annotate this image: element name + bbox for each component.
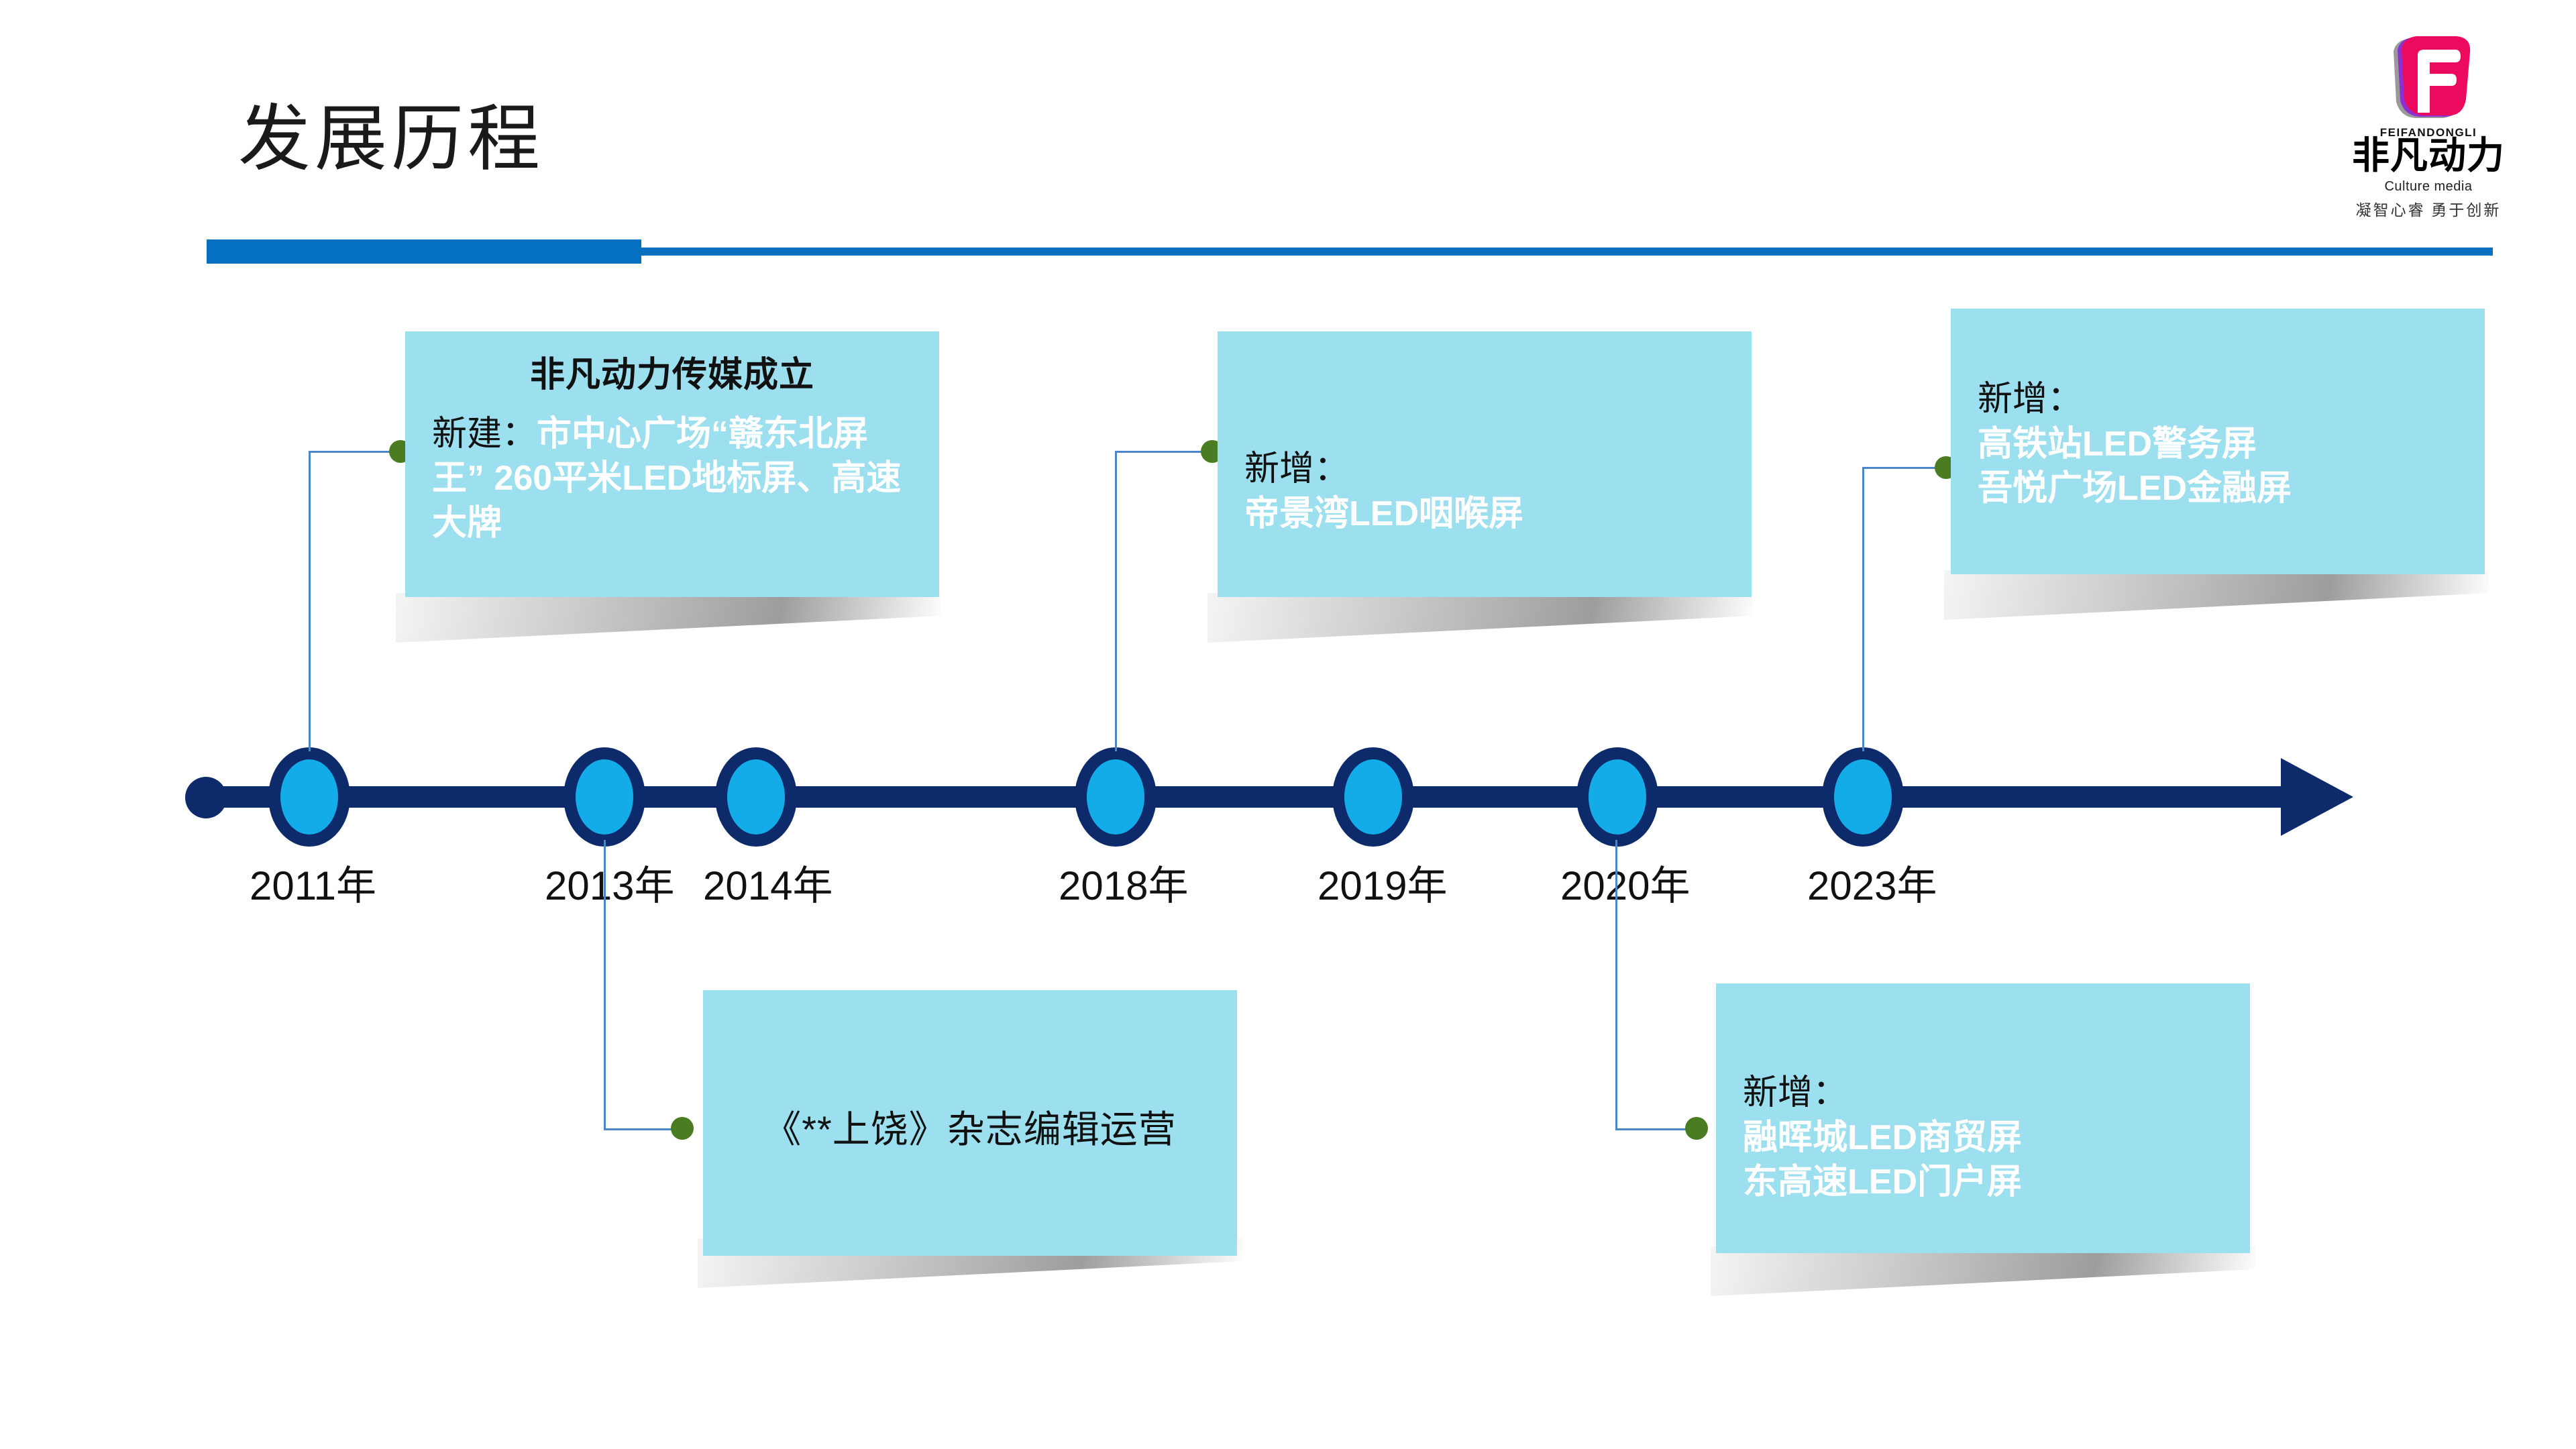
timeline-node-2014[interactable] <box>715 747 797 847</box>
timeline-node-2018[interactable] <box>1075 747 1157 847</box>
timeline-axis <box>221 786 2301 808</box>
card-shadow-2020 <box>1711 1246 2255 1296</box>
year-label-2023: 2023年 <box>1807 853 1937 912</box>
card-2023-lead: 新增： <box>1978 377 2458 422</box>
node-inner-fill <box>1834 759 1892 835</box>
logo-slogan: 凝智心睿 勇于创新 <box>2334 197 2522 220</box>
card-shadow-2023 <box>1944 570 2489 620</box>
node-inner-fill <box>280 759 338 835</box>
timeline-node-2023[interactable] <box>1822 747 1904 847</box>
timeline-start-dot <box>185 777 227 818</box>
connector-vertical-2013 <box>604 840 606 1130</box>
card-shadow-2011 <box>396 593 941 643</box>
year-label-2011: 2011年 <box>250 853 376 912</box>
card-2013-text: 《**上饶》杂志编辑运营 <box>763 1108 1177 1150</box>
card-2020-body-line2: 东高速LED门户屏 <box>1743 1160 2223 1205</box>
card-2018-body-line1: 帝景湾LED咽喉屏 <box>1244 492 1725 537</box>
page-title: 发展历程 <box>238 99 544 179</box>
timeline-node-2011[interactable] <box>268 747 350 847</box>
node-inner-fill <box>576 759 633 835</box>
connector-vertical-2011 <box>309 451 311 751</box>
year-label-2019: 2019年 <box>1318 853 1447 912</box>
feifandongli-f-logo-icon <box>2373 32 2474 126</box>
card-2020-lead: 新增： <box>1743 1071 2223 1116</box>
card-2011-title: 非凡动力传媒成立 <box>432 356 912 396</box>
card-shadow-2018 <box>1207 593 1752 643</box>
connector-dot-2013 <box>671 1117 694 1140</box>
card-2018-lead: 新增： <box>1244 447 1725 492</box>
logo-subtitle-en: Culture media <box>2334 179 2522 195</box>
event-card-2013[interactable]: 《**上饶》杂志编辑运营 <box>703 990 1237 1256</box>
logo-name-cn: 非凡动力 <box>2334 136 2522 176</box>
timeline-node-2020[interactable] <box>1576 747 1658 847</box>
event-card-2023[interactable]: 新增： 高铁站LED警务屏 吾悦广场LED金融屏 <box>1951 309 2485 574</box>
node-inner-fill <box>1589 759 1646 835</box>
title-accent-bar-thick <box>207 239 641 264</box>
year-label-2013: 2013年 <box>545 853 674 912</box>
connector-vertical-2023 <box>1862 467 1864 751</box>
timeline-arrow-icon <box>2281 758 2353 836</box>
card-2020-body-line1: 融晖城LED商贸屏 <box>1743 1116 2223 1161</box>
node-inner-fill <box>727 759 785 835</box>
year-label-2020: 2020年 <box>1560 853 1690 912</box>
title-accent-bar-thin <box>641 248 2493 256</box>
connector-vertical-2020 <box>1615 840 1617 1130</box>
year-label-2014: 2014年 <box>703 853 833 912</box>
event-card-2020[interactable]: 新增： 融晖城LED商贸屏 东高速LED门户屏 <box>1716 983 2250 1253</box>
connector-vertical-2018 <box>1115 451 1117 751</box>
node-inner-fill <box>1344 759 1402 835</box>
event-card-2018[interactable]: 新增： 帝景湾LED咽喉屏 <box>1218 331 1752 597</box>
card-2011-lead: 新建： <box>432 415 537 453</box>
timeline-node-2013[interactable] <box>563 747 645 847</box>
event-card-2011[interactable]: 非凡动力传媒成立 新建：市中心广场“赣东北屏王” 260平米LED地标屏、高速大… <box>405 331 939 597</box>
timeline-node-2019[interactable] <box>1332 747 1414 847</box>
connector-dot-2020 <box>1685 1117 1708 1140</box>
company-logo: FEIFANDONGLI 非凡动力 Culture media 凝智心睿 勇于创… <box>2334 32 2522 207</box>
card-2023-body-line1: 高铁站LED警务屏 <box>1978 422 2458 467</box>
year-label-2018: 2018年 <box>1059 853 1188 912</box>
card-2023-body-line2: 吾悦广场LED金融屏 <box>1978 466 2458 511</box>
node-inner-fill <box>1087 759 1144 835</box>
